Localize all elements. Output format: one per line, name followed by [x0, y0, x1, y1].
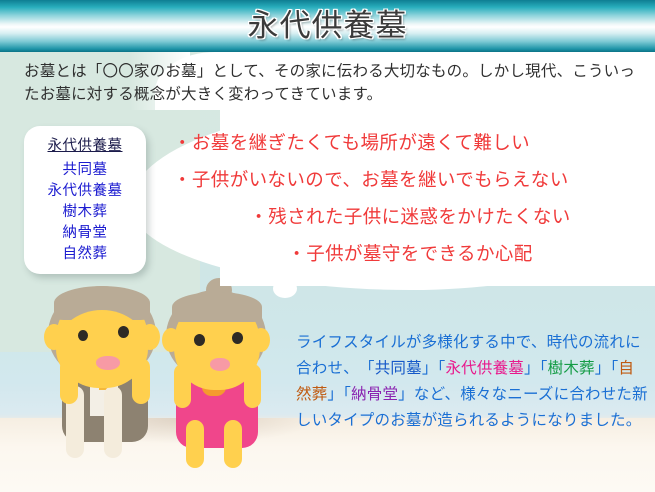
grave-types-card-title: 永代供養墓 [24, 134, 146, 155]
list-item: 樹木葬 [24, 202, 146, 223]
list-item: 共同墓 [24, 160, 146, 181]
summary-text-run: 樹木葬 [548, 360, 595, 377]
list-item: ・残された子供に迷惑をかけたくない [165, 198, 655, 235]
list-item: 自然葬 [24, 244, 146, 265]
slide-canvas: 永代供養墓 お墓とは「〇〇家のお墓」として、その家に伝わる大切なもの。しかし現代… [0, 0, 655, 492]
list-item: 永代供養墓 [24, 181, 146, 202]
list-item: ・子供が墓守をできるか心配 [165, 235, 655, 272]
summary-text-run: 」「 [422, 360, 446, 377]
summary-text-run: 納骨堂 [351, 386, 398, 403]
summary-text-run: 共同墓 [375, 360, 422, 377]
concerns-list: ・お墓を継ぎたくても場所が遠くて難しい ・子供がいないので、お墓を継いでもらえな… [165, 124, 655, 272]
speech-balloon-tail [273, 279, 297, 298]
intro-paragraph: お墓とは「〇〇家のお墓」として、その家に伝わる大切なもの。しかし現代、こういった… [24, 60, 640, 106]
page-title: 永代供養墓 [0, 0, 655, 52]
list-item: 納骨堂 [24, 223, 146, 244]
list-item: ・子供がいないので、お墓を継いでもらえない [165, 161, 655, 198]
header-band: 永代供養墓 [0, 0, 655, 52]
summary-text-run: 」「 [595, 360, 619, 377]
grave-types-card-items: 共同墓 永代供養墓 樹木葬 納骨堂 自然葬 [24, 160, 146, 265]
summary-paragraph: ライフスタイルが多様化する中で、時代の流れに合わせ、 「共同墓」「永代供養墓」「… [296, 330, 648, 434]
summary-text-run: 」「 [524, 360, 548, 377]
grave-types-card: 永代供養墓 共同墓 永代供養墓 樹木葬 納骨堂 自然葬 [24, 126, 146, 274]
summary-text-run: 」「 [327, 386, 351, 403]
clay-figures-photo [40, 282, 280, 464]
summary-text-run: 永代供養墓 [445, 360, 524, 377]
list-item: ・お墓を継ぎたくても場所が遠くて難しい [165, 124, 655, 161]
